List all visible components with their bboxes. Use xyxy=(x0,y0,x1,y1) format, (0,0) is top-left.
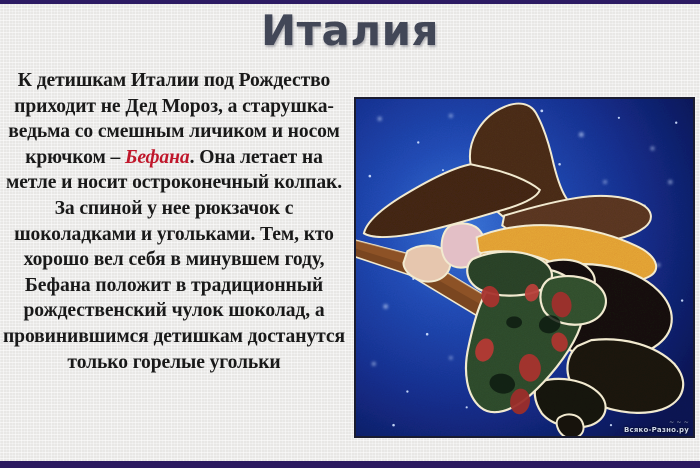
body-paragraph: К детишкам Италии под Рождество приходит… xyxy=(2,68,346,375)
bottom-accent-border xyxy=(0,461,700,468)
body-text-part-2: . Она летает на метле и носит остроконеч… xyxy=(3,147,345,373)
witch-illustration: ~ ~ ~ Всяко-Разно.ру xyxy=(354,97,695,438)
top-accent-border xyxy=(0,0,700,4)
watermark-text: Всяко-Разно.ру xyxy=(624,426,689,434)
witch-shoe xyxy=(557,414,584,436)
page-title: Италия xyxy=(0,6,700,55)
watermark: ~ ~ ~ Всяко-Разно.ру xyxy=(624,419,689,434)
watermark-squiggle: ~ ~ ~ xyxy=(624,419,689,426)
slide-root: Италия К детишкам Италии под Рождество п… xyxy=(0,0,700,468)
stained-glass-svg xyxy=(356,99,693,436)
highlight-befana: Бефана xyxy=(125,147,190,168)
